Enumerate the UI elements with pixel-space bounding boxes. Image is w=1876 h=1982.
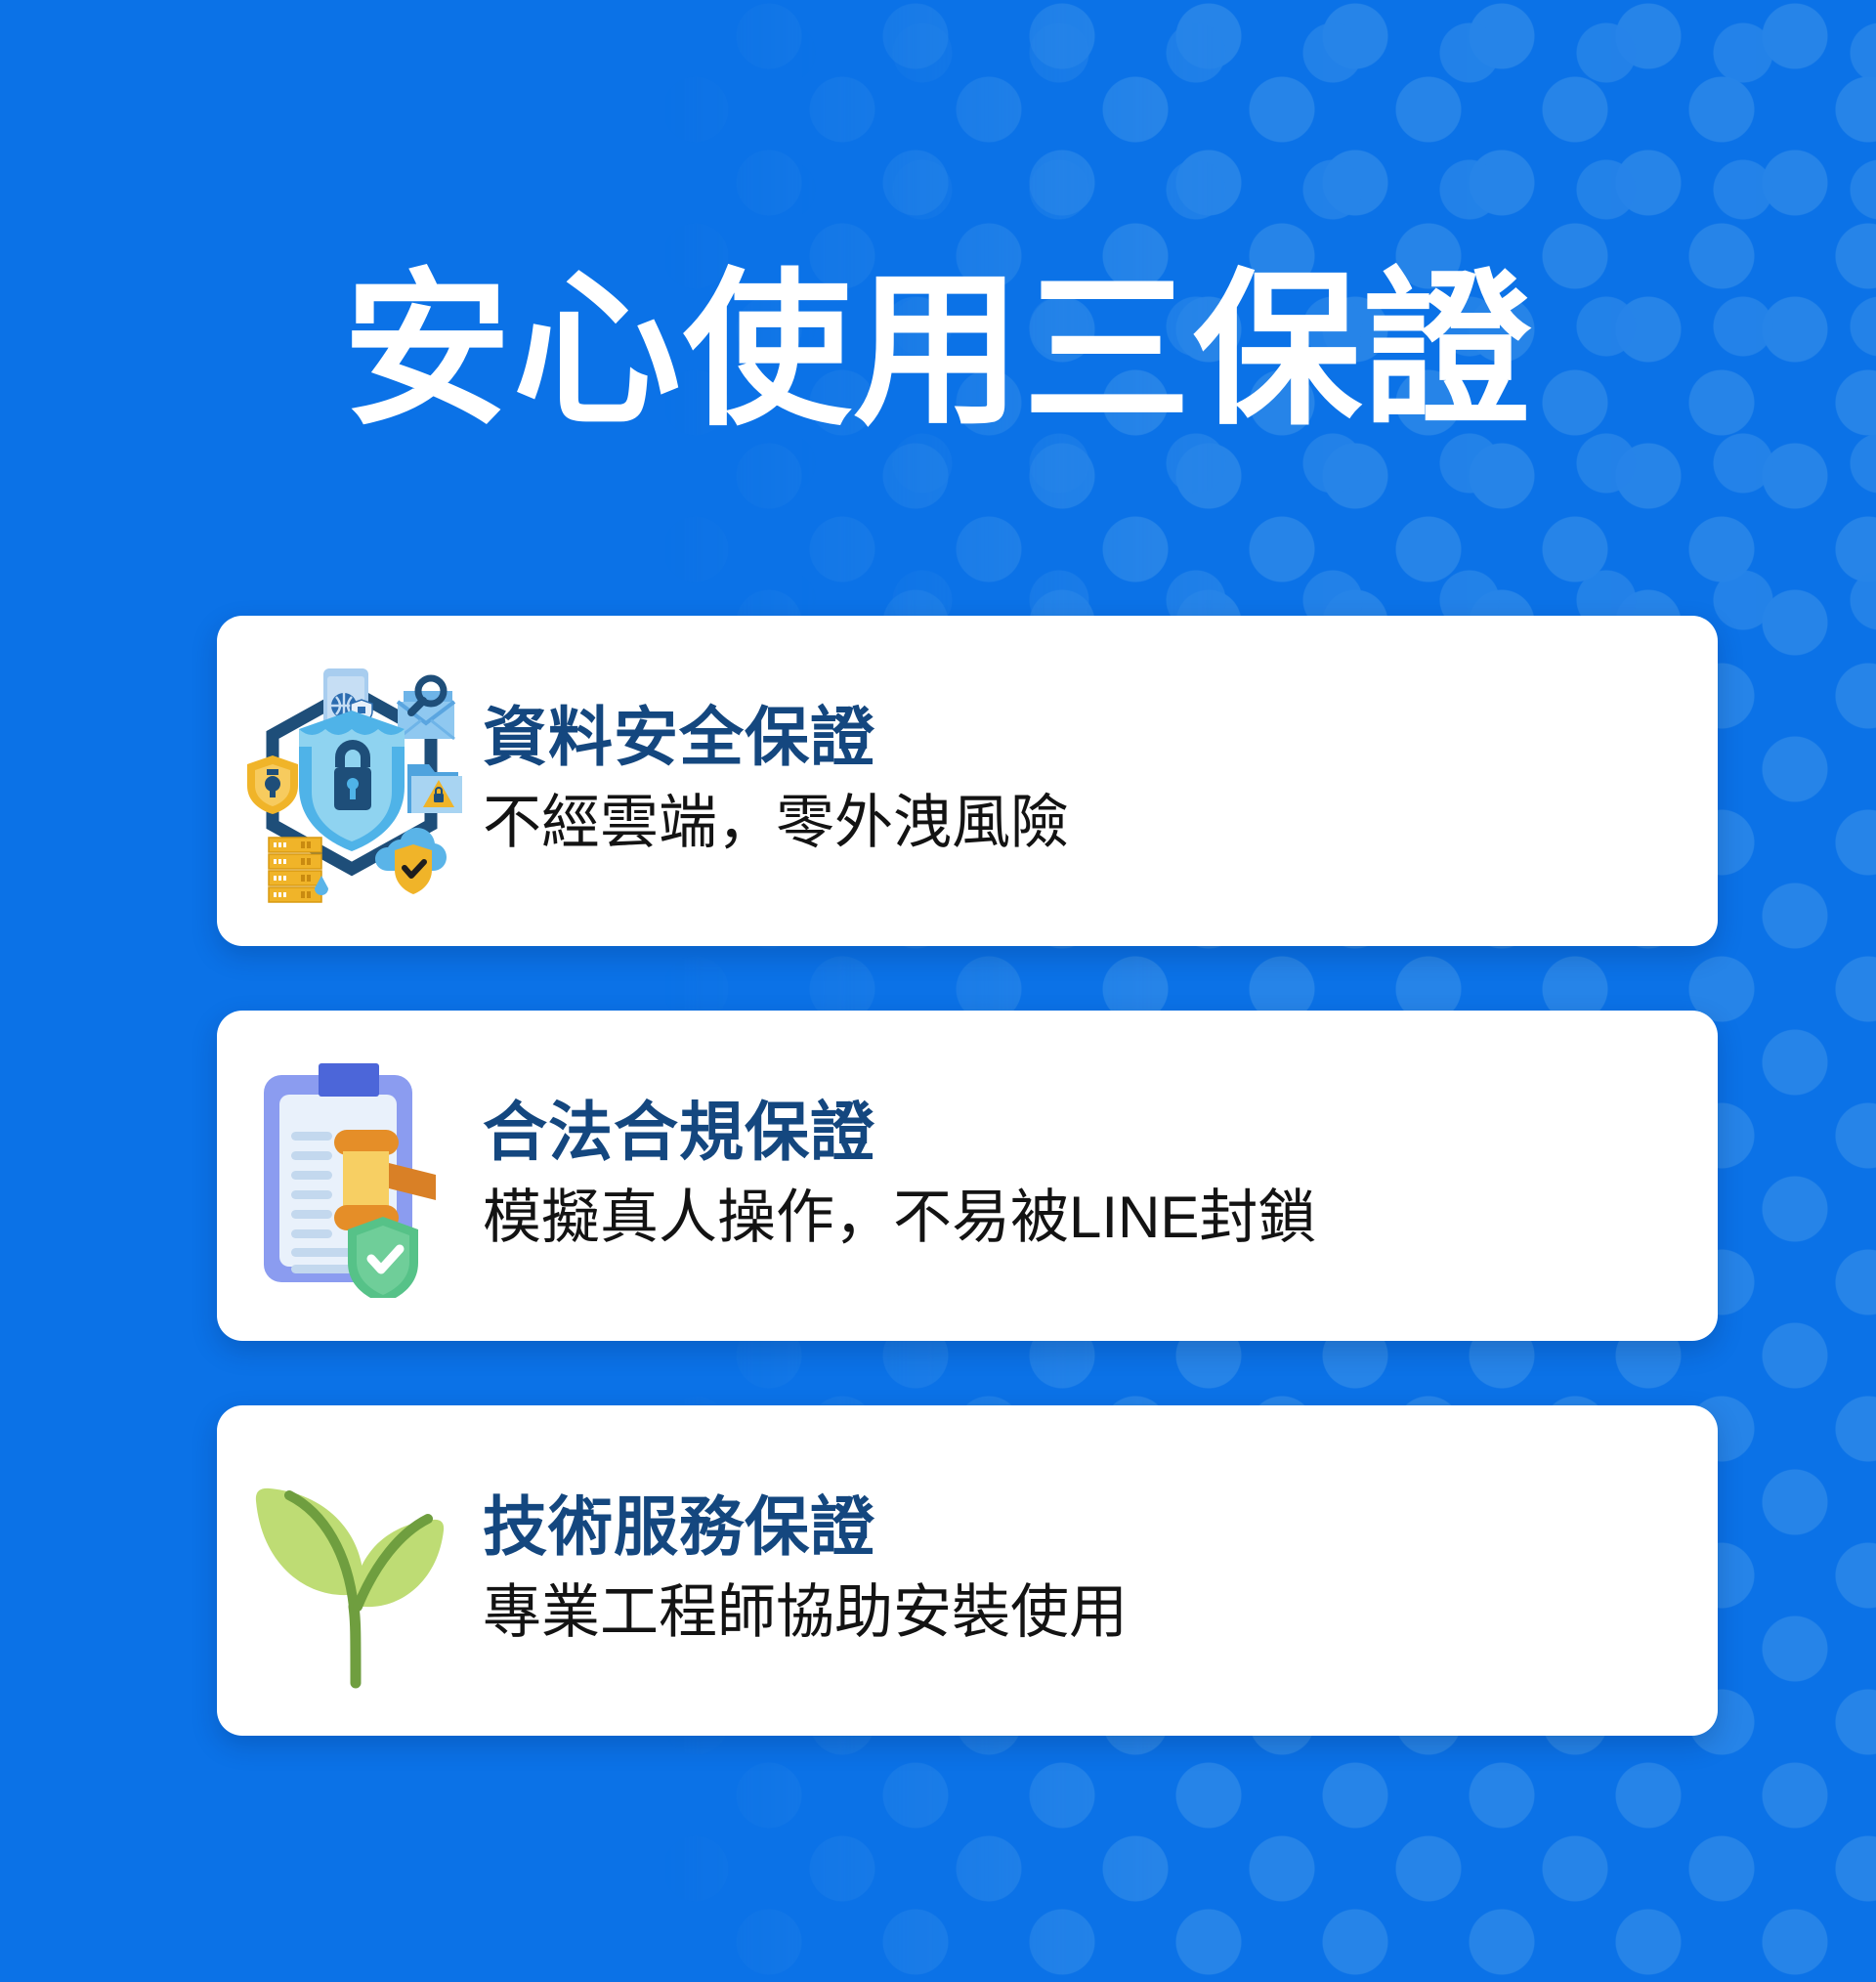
legal-compliance-icon-svg bbox=[244, 1054, 459, 1298]
legal-compliance-clipboard-gavel-icon bbox=[234, 1049, 469, 1303]
email-search-node bbox=[398, 678, 454, 739]
card-heading: 資料安全保證 bbox=[483, 702, 1718, 774]
guarantee-card-legal-compliance[interactable]: 合法合規保證 模擬真人操作，不易被LINE封鎖 bbox=[217, 1011, 1718, 1341]
sprout-leaf-icon-svg bbox=[242, 1448, 462, 1693]
technical-service-sprout-icon bbox=[234, 1443, 469, 1698]
guarantee-card-data-security[interactable]: 資料安全保證 不經雲端，零外洩風險 bbox=[217, 616, 1718, 946]
central-shield-lock bbox=[299, 711, 405, 851]
card-heading: 合法合規保證 bbox=[483, 1097, 1718, 1169]
cloud-verified-node bbox=[375, 828, 447, 894]
data-security-hexagon-icon bbox=[234, 654, 469, 908]
card-subtitle: 模擬真人操作，不易被LINE封鎖 bbox=[483, 1184, 1718, 1251]
card-heading: 技術服務保證 bbox=[483, 1491, 1718, 1564]
server-stack-node bbox=[269, 838, 328, 902]
card-subtitle: 專業工程師協助安裝使用 bbox=[483, 1578, 1718, 1646]
page-title: 安心使用三保證 bbox=[0, 259, 1876, 444]
card-text-block: 資料安全保證 不經雲端，零外洩風險 bbox=[469, 702, 1718, 861]
guarantee-card-technical-service[interactable]: 技術服務保證 專業工程師協助安裝使用 bbox=[217, 1405, 1718, 1736]
card-text-block: 技術服務保證 專業工程師協助安裝使用 bbox=[469, 1491, 1718, 1651]
card-text-block: 合法合規保證 模擬真人操作，不易被LINE封鎖 bbox=[469, 1097, 1718, 1256]
guarantee-card-list: 資料安全保證 不經雲端，零外洩風險 bbox=[217, 616, 1718, 1800]
data-security-hexagon-icon-svg bbox=[239, 659, 464, 903]
shield-key-node bbox=[247, 755, 298, 814]
card-subtitle: 不經雲端，零外洩風險 bbox=[483, 789, 1718, 856]
